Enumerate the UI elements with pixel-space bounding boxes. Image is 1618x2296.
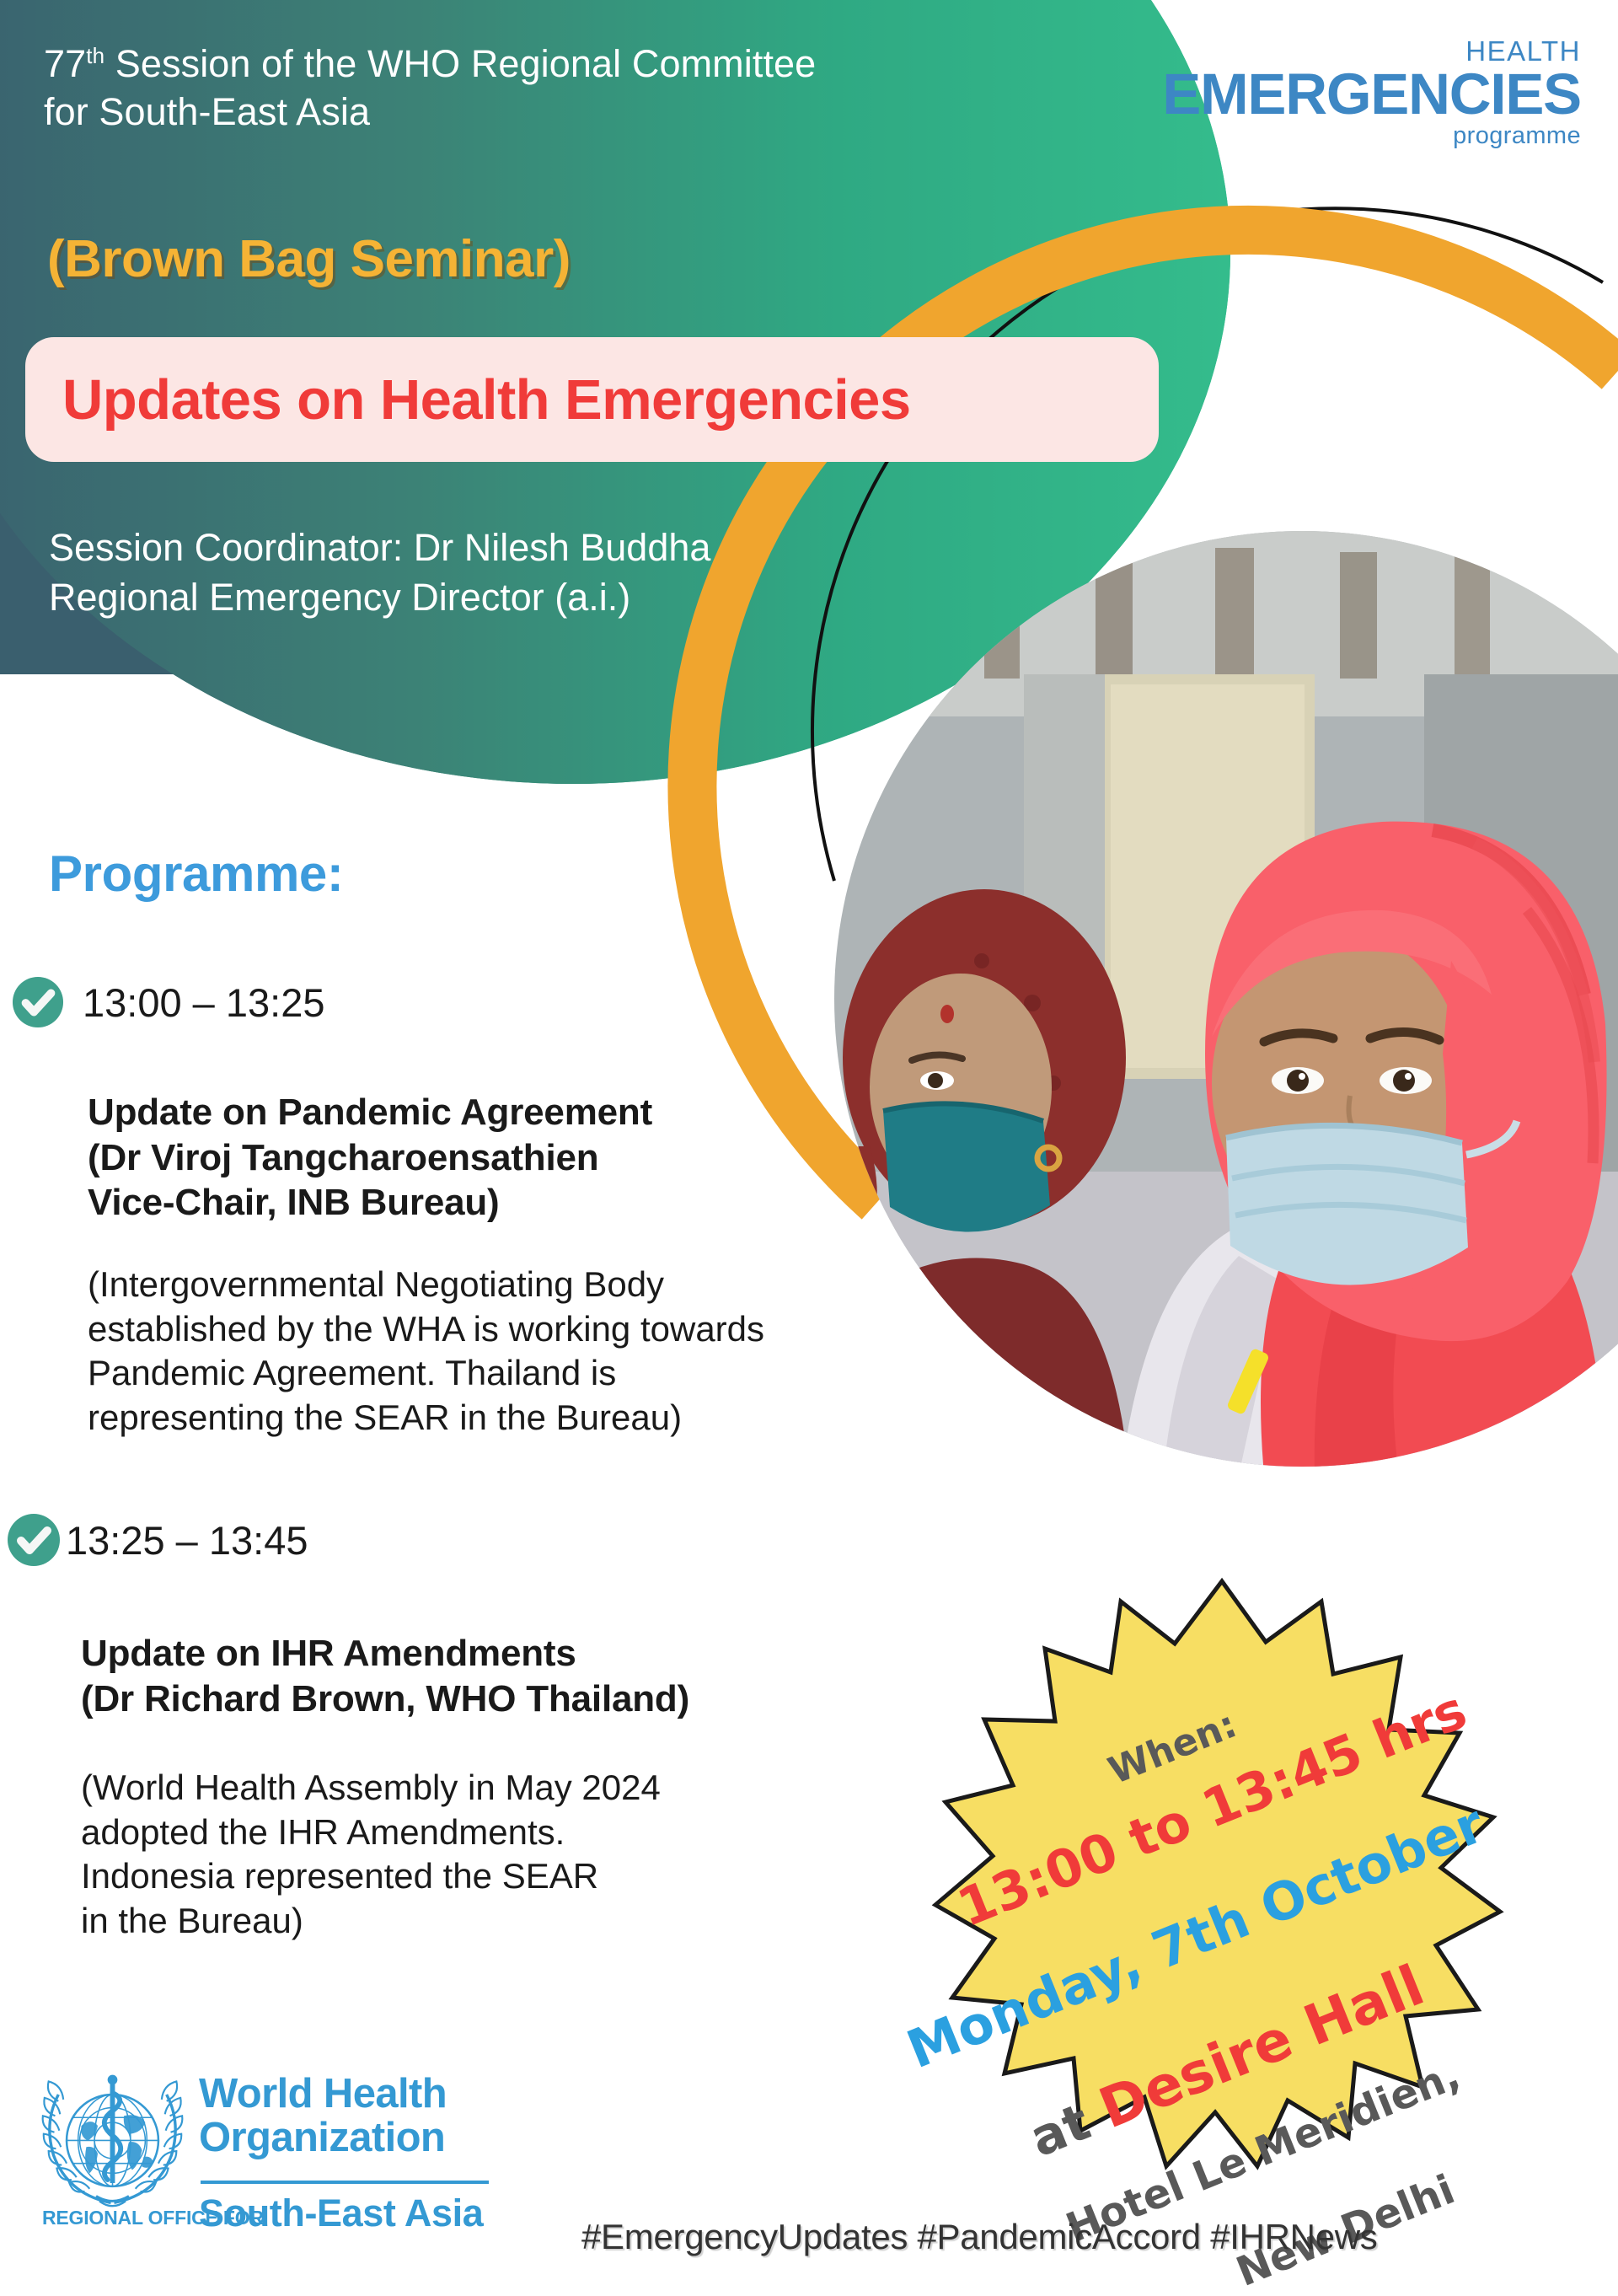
who-logo-divider	[201, 2181, 489, 2184]
he-logo-programme: programme	[1162, 124, 1581, 148]
main-title-banner: Updates on Health Emergencies	[25, 337, 1159, 462]
checkmark-icon	[7, 1513, 61, 1567]
session-1-title-line3: Vice-Chair, INB Bureau)	[88, 1182, 500, 1223]
session-1-note: (Intergovernmental Negotiating Body esta…	[88, 1263, 981, 1440]
session-ordinal: 77	[44, 42, 86, 85]
coordinator-role: Regional Emergency Director (a.i.)	[49, 576, 630, 619]
session-2-note: (World Health Assembly in May 2024 adopt…	[81, 1766, 890, 1943]
session-ordinal-suffix: th	[86, 43, 104, 68]
session-2-note-line3: Indonesia represented the SEAR	[81, 1856, 598, 1896]
session-coordinator: Session Coordinator: Dr Nilesh Buddha Re…	[49, 523, 1060, 623]
who-emblem-icon	[39, 2065, 186, 2213]
session-2-title: Update on IHR Amendments (Dr Richard Bro…	[81, 1631, 940, 1721]
session-1-title: Update on Pandemic Agreement (Dr Viroj T…	[88, 1090, 930, 1226]
main-title-text: Updates on Health Emergencies	[25, 367, 911, 432]
session-1-title-line1: Update on Pandemic Agreement	[88, 1092, 652, 1133]
session-1-time: 13:00 – 13:25	[83, 979, 325, 1026]
session-line-1: Session of the WHO Regional Committee	[115, 42, 817, 85]
he-logo-emergencies: EMERGENCIES	[1162, 67, 1581, 122]
who-name-line1: World Health	[199, 2071, 447, 2116]
event-badge-starburst	[935, 1581, 1500, 2166]
health-emergencies-logo: HEALTH EMERGENCIES programme	[1162, 37, 1581, 148]
programme-heading: Programme:	[49, 845, 343, 903]
session-2-time: 13:25 – 13:45	[66, 1517, 308, 1564]
who-logo-name: World Health Organization	[199, 2072, 447, 2160]
session-1-title-line2: (Dr Viroj Tangcharoensathien	[88, 1137, 598, 1178]
page-title: 77th Session of the WHO Regional Committ…	[44, 40, 1156, 136]
who-logo: World Health Organization REGIONAL OFFIC…	[39, 2065, 511, 2276]
session-line-2: for South-East Asia	[44, 90, 370, 133]
checkmark-icon	[12, 976, 64, 1028]
session-1-note-line3: Pandemic Agreement. Thailand is	[88, 1353, 616, 1392]
session-2-note-line2: adopted the IHR Amendments.	[81, 1812, 565, 1852]
session-2-title-line1: Update on IHR Amendments	[81, 1633, 576, 1674]
coordinator-name: Session Coordinator: Dr Nilesh Buddha	[49, 526, 710, 569]
who-name-line2: Organization	[199, 2115, 445, 2160]
session-1-note-line2: established by the WHA is working toward…	[88, 1309, 764, 1349]
session-1-note-line1: (Intergovernmental Negotiating Body	[88, 1264, 664, 1304]
session-2-note-line1: (World Health Assembly in May 2024	[81, 1768, 661, 1807]
session-2-note-line4: in the Bureau)	[81, 1901, 303, 1940]
footer-hashtags: #EmergencyUpdates #PandemicAccord #IHRNe…	[581, 2217, 1378, 2257]
who-region-name: South-East Asia	[199, 2191, 483, 2235]
session-2-title-line2: (Dr Richard Brown, WHO Thailand)	[81, 1678, 689, 1719]
brown-bag-seminar-label: (Brown Bag Seminar)	[47, 229, 571, 289]
session-1-note-line4: representing the SEAR in the Bureau)	[88, 1397, 682, 1437]
